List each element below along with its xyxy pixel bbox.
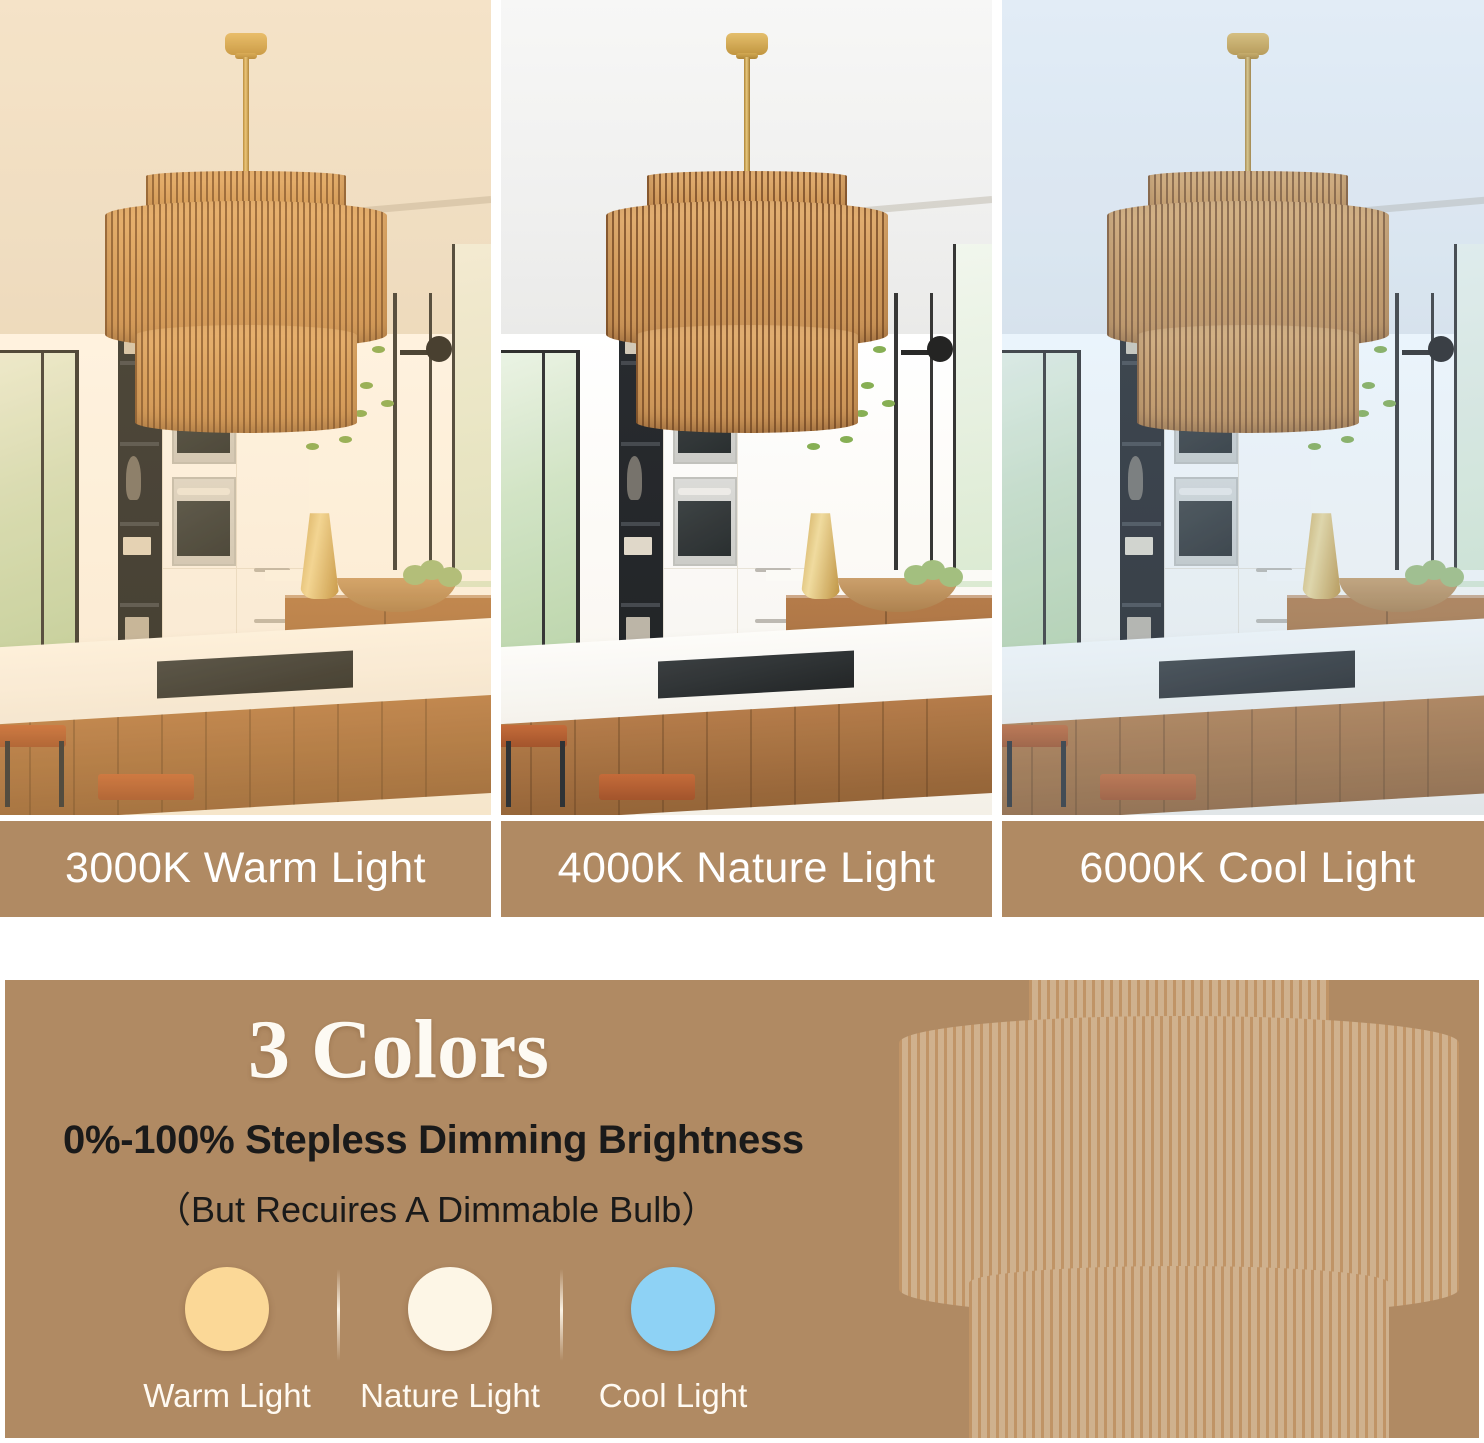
swatch-cool-light[interactable]: Cool Light [563, 1267, 783, 1415]
swatch-warm-light[interactable]: Warm Light [117, 1267, 337, 1415]
chandelier-canopy [726, 33, 768, 55]
window-far-right [452, 244, 491, 586]
shade-tier-bottom [1137, 325, 1359, 433]
feature-note: （But Recuires A Dimmable Bulb） [5, 1181, 1479, 1233]
swatch-label-cool: Cool Light [599, 1377, 748, 1415]
chandelier-downrod [744, 57, 750, 173]
comparison-panel-nature[interactable]: 4000K Nature Light [501, 0, 992, 917]
caption-warm: 3000K Warm Light [0, 821, 491, 917]
comparison-panel-warm[interactable]: 3000K Warm Light [0, 0, 491, 917]
feature-title: 3 Colors [5, 1008, 1479, 1092]
kitchen-photo-cool [1002, 0, 1484, 815]
bar-stool [1002, 725, 1068, 747]
chandelier-downrod [243, 57, 249, 173]
swatch-label-nature: Nature Light [360, 1377, 540, 1415]
light-temperature-comparison: 3000K Warm Light [0, 0, 1484, 917]
shade-tier-bottom [636, 325, 858, 433]
bar-stool [98, 774, 194, 800]
wall-oven-lower [1174, 477, 1238, 567]
color-swatch-row: Warm Light Nature Light Cool Light [5, 1267, 1479, 1415]
feature-subtitle: 0%-100% Stepless Dimming Brightness [5, 1118, 1479, 1163]
comparison-panel-cool[interactable]: 6000K Cool Light [1002, 0, 1484, 917]
wall-oven-lower [673, 477, 737, 567]
bar-stool [599, 774, 695, 800]
wall-sconce [426, 336, 452, 362]
window-left [1002, 350, 1081, 651]
caption-cool: 6000K Cool Light [1002, 821, 1484, 917]
chandelier-canopy [225, 33, 267, 55]
kitchen-photo-warm [0, 0, 491, 815]
window-far-right [1454, 244, 1484, 586]
chandelier-canopy [1227, 33, 1269, 55]
cool-light-dot-icon [631, 1267, 715, 1351]
wall-sconce [927, 336, 953, 362]
bar-stool [501, 725, 567, 747]
wall-sconce [1428, 336, 1454, 362]
nature-light-dot-icon [408, 1267, 492, 1351]
shade-tier-bottom [135, 325, 357, 433]
bar-stool [0, 725, 66, 747]
window-far-right [953, 244, 992, 586]
kitchen-photo-nature [501, 0, 992, 815]
dimming-feature-panel: 3 Colors 0%-100% Stepless Dimming Bright… [5, 980, 1479, 1438]
warm-light-dot-icon [185, 1267, 269, 1351]
window-left [0, 350, 79, 651]
caption-nature: 4000K Nature Light [501, 821, 992, 917]
bar-stool [1100, 774, 1196, 800]
chandelier-downrod [1245, 57, 1251, 173]
wall-oven-lower [172, 477, 236, 567]
swatch-label-warm: Warm Light [143, 1377, 310, 1415]
window-left [501, 350, 580, 651]
swatch-nature-light[interactable]: Nature Light [340, 1267, 560, 1415]
